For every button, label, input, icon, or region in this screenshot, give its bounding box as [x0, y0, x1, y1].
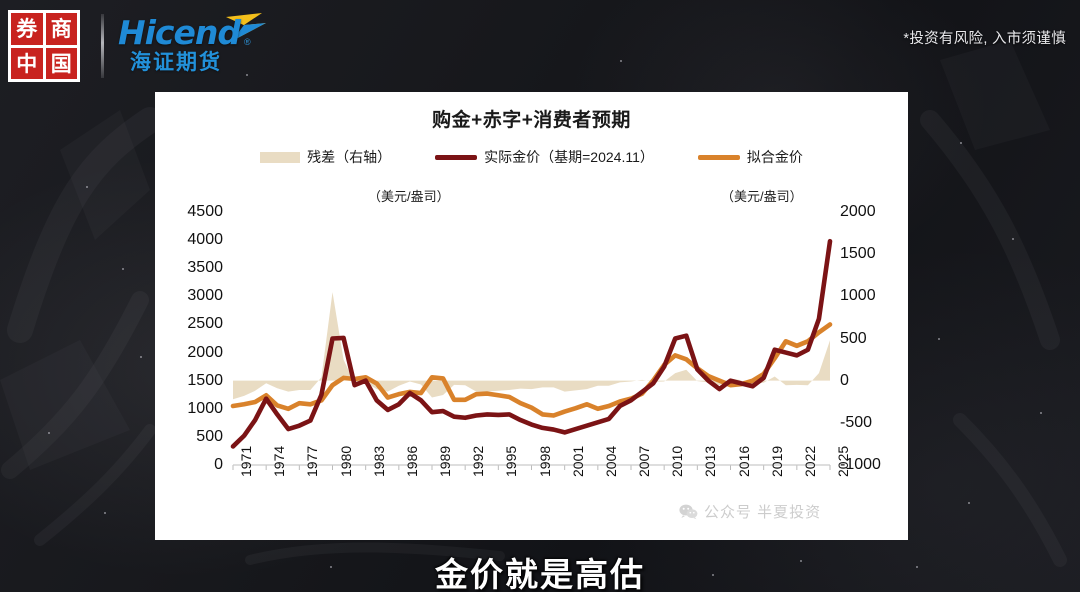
x-axis-tick: 2013 — [703, 446, 717, 477]
logo-char-2: 商 — [46, 13, 78, 45]
y-axis-tick-right: 2000 — [840, 204, 892, 220]
x-axis-tick: 2004 — [604, 446, 618, 477]
x-axis-tick: 1998 — [538, 446, 552, 477]
logo-char-1: 券 — [11, 13, 43, 45]
hicend-wordmark: Hicend — [118, 16, 240, 49]
y-axis-tick-left: 1000 — [171, 401, 223, 417]
x-axis-tick: 2010 — [670, 446, 684, 477]
risk-disclaimer: *投资有风险, 入市须谨慎 — [903, 27, 1066, 48]
y-axis-tick-left: 4000 — [171, 232, 223, 248]
watermark-text: 公众号 半夏投资 — [704, 501, 821, 522]
logo-char-4: 国 — [46, 48, 78, 80]
x-axis-tick: 1983 — [372, 446, 386, 477]
y-axis-tick-right: 0 — [840, 373, 892, 389]
x-axis-tick: 1986 — [405, 446, 419, 477]
registered-mark-icon: ® — [244, 37, 251, 47]
y-axis-tick-right: 1500 — [840, 246, 892, 262]
chart-plot — [155, 92, 908, 540]
x-axis-tick: 1992 — [471, 446, 485, 477]
x-axis-tick: 2016 — [737, 446, 751, 477]
x-axis-tick: 1974 — [272, 446, 286, 477]
page-header: 券 商 中 国 Hicend ® 海证期货 *投资有风险, 入市须谨慎 — [0, 0, 1080, 92]
video-caption: 金价就是高估 — [0, 548, 1080, 592]
x-axis-tick: 2001 — [571, 446, 585, 477]
y-axis-tick-left: 2500 — [171, 316, 223, 332]
x-axis-tick: 1971 — [239, 446, 253, 477]
x-axis-tick: 1980 — [339, 446, 353, 477]
y-axis-tick-right: -500 — [840, 415, 892, 431]
x-axis-tick: 2019 — [770, 446, 784, 477]
logo-divider — [101, 14, 104, 78]
y-axis-tick-right: 500 — [840, 331, 892, 347]
y-axis-tick-left: 0 — [171, 457, 223, 473]
watermark: 公众号 半夏投资 — [679, 501, 821, 522]
actual-price-line — [233, 241, 830, 446]
y-axis-tick-left: 2000 — [171, 345, 223, 361]
x-axis-tick: 1989 — [438, 446, 452, 477]
y-axis-tick-right: 1000 — [840, 288, 892, 304]
y-axis-tick-left: 1500 — [171, 373, 223, 389]
chart-card: 购金+赤字+消费者预期 残差（右轴） 实际金价（基期=2024.11） 拟合金价… — [155, 92, 908, 540]
y-axis-tick-left: 4500 — [171, 204, 223, 220]
x-axis-tick: 2025 — [836, 446, 850, 477]
hicend-chinese-name: 海证期货 — [130, 52, 222, 73]
quanshang-china-logo: 券 商 中 国 — [8, 10, 80, 82]
y-axis-tick-left: 3500 — [171, 260, 223, 276]
hicend-logo: Hicend ® 海证期货 — [118, 16, 278, 80]
x-axis-tick: 1977 — [305, 446, 319, 477]
logo-char-3: 中 — [11, 48, 43, 80]
y-axis-tick-left: 3000 — [171, 288, 223, 304]
x-axis-tick: 2022 — [803, 446, 817, 477]
x-axis-tick: 2007 — [637, 446, 651, 477]
x-axis-tick: 1995 — [504, 446, 518, 477]
y-axis-tick-left: 500 — [171, 429, 223, 445]
wechat-icon — [679, 504, 698, 520]
